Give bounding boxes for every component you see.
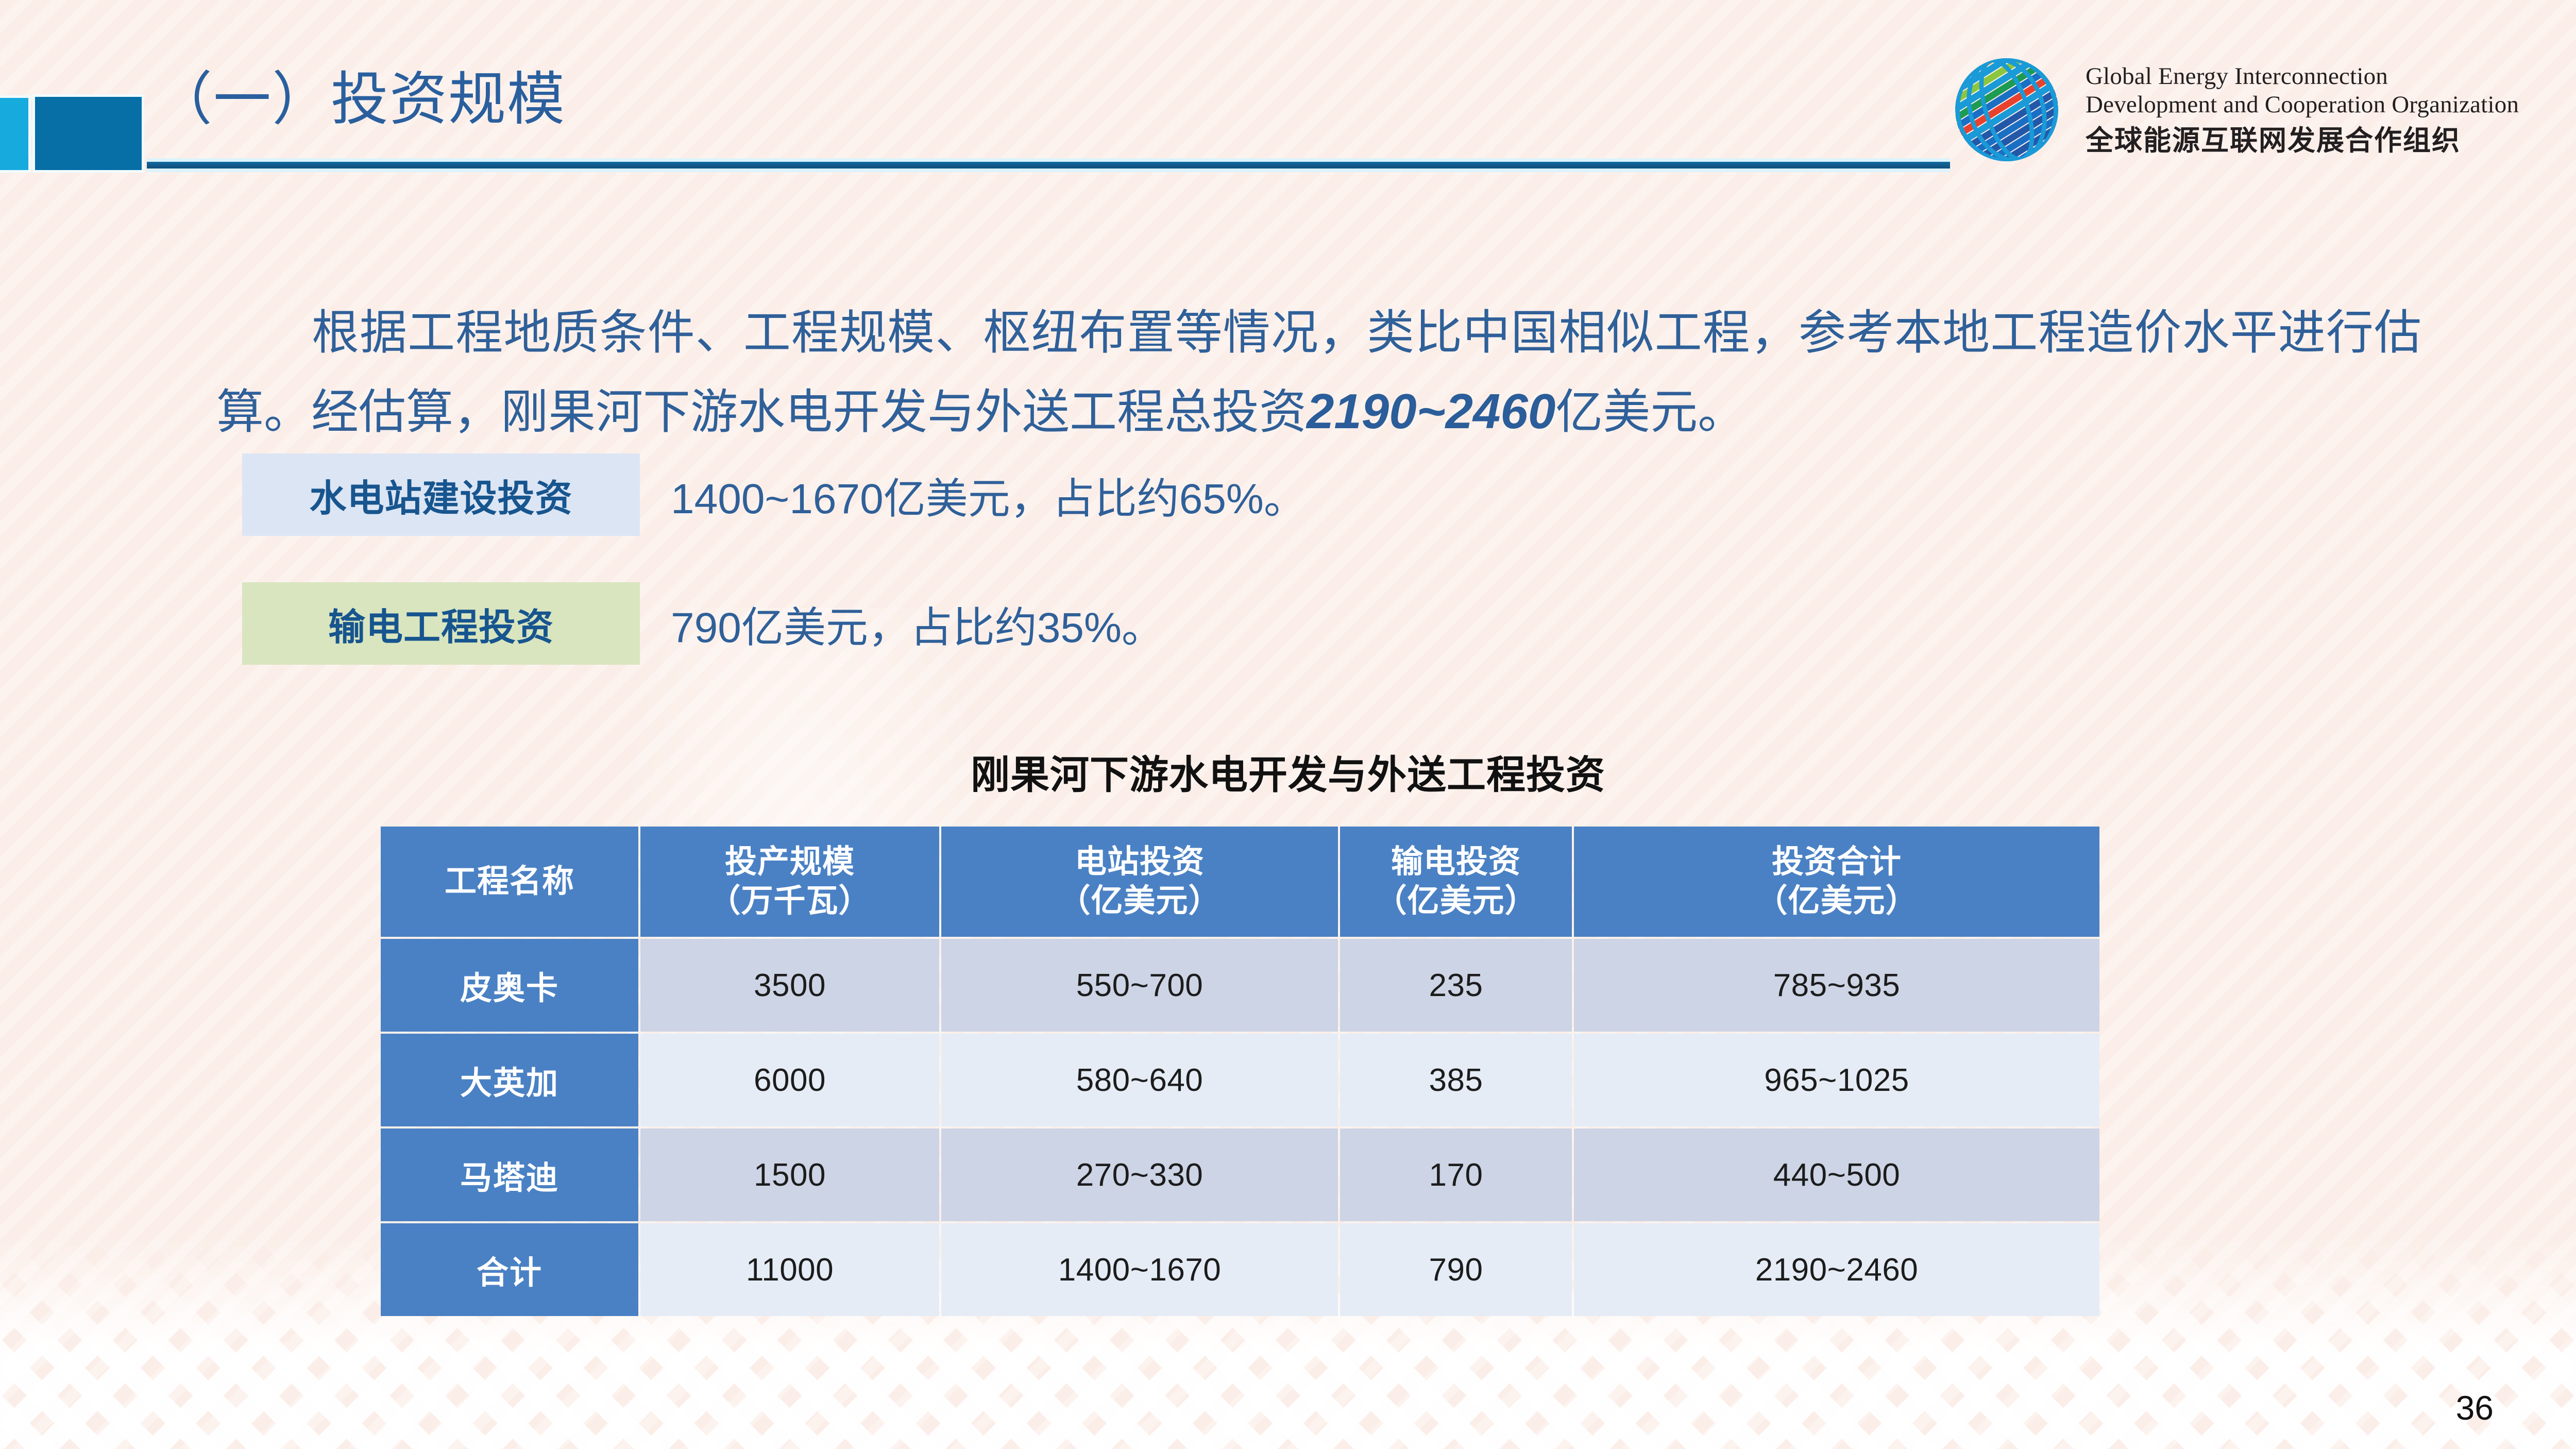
cell-capacity: 11000 bbox=[640, 1223, 939, 1316]
bullet-row-hydropower: 水电站建设投资 1400~1670亿美元，占比约65%。 bbox=[242, 453, 1306, 536]
header-line-1: 投产规模 bbox=[641, 843, 939, 882]
bullet-text-transmission: 790亿美元，占比约35%。 bbox=[671, 593, 1164, 654]
header-accent-block-cyan bbox=[0, 98, 28, 170]
page-number: 36 bbox=[2456, 1388, 2494, 1427]
logo-english-line-1: Global Energy Interconnection bbox=[2086, 62, 2519, 91]
column-header-capacity: 投产规模 （万千瓦） bbox=[640, 827, 939, 937]
header-line-1: 投资合计 bbox=[1574, 843, 2099, 882]
cell-transmission-investment: 790 bbox=[1340, 1223, 1572, 1316]
header-line-1: 输电投资 bbox=[1341, 843, 1571, 882]
cell-capacity: 1500 bbox=[640, 1128, 939, 1221]
cell-project-name: 合计 bbox=[381, 1223, 638, 1316]
column-header-project-name: 工程名称 bbox=[381, 827, 638, 937]
cell-project-name: 马塔迪 bbox=[381, 1128, 638, 1221]
header-line-1: 工程名称 bbox=[381, 862, 638, 901]
table-row: 大英加 6000 580~640 385 965~1025 bbox=[381, 1034, 2099, 1126]
investment-table: 工程名称 投产规模 （万千瓦） 电站投资 （亿美元） 输电投资 （亿美元） 投资… bbox=[379, 824, 2102, 1318]
bullet-row-transmission: 输电工程投资 790亿美元，占比约35%。 bbox=[242, 582, 1164, 665]
cell-plant-investment: 580~640 bbox=[941, 1034, 1338, 1126]
header-line-2: （亿美元） bbox=[1341, 882, 1571, 921]
table-row: 皮奥卡 3500 550~700 235 785~935 bbox=[381, 939, 2099, 1032]
header-line-2: （亿美元） bbox=[1574, 882, 2099, 921]
cell-transmission-investment: 385 bbox=[1340, 1034, 1572, 1126]
table-row-total: 合计 11000 1400~1670 790 2190~2460 bbox=[381, 1223, 2099, 1316]
logo-english-line-2: Development and Cooperation Organization bbox=[2086, 91, 2519, 119]
cell-total-investment: 965~1025 bbox=[1574, 1034, 2099, 1126]
cell-project-name: 大英加 bbox=[381, 1034, 638, 1126]
bullet-tag-hydropower: 水电站建设投资 bbox=[242, 453, 640, 536]
cell-capacity: 6000 bbox=[640, 1034, 939, 1126]
column-header-transmission-investment: 输电投资 （亿美元） bbox=[1340, 827, 1572, 937]
header-line-1: 电站投资 bbox=[942, 843, 1337, 882]
cell-total-investment: 2190~2460 bbox=[1574, 1223, 2099, 1316]
header-line-2: （万千瓦） bbox=[641, 882, 939, 921]
table-header-row: 工程名称 投产规模 （万千瓦） 电站投资 （亿美元） 输电投资 （亿美元） 投资… bbox=[381, 827, 2099, 937]
cell-capacity: 3500 bbox=[640, 939, 939, 1032]
page-title: （一）投资规模 bbox=[155, 62, 566, 137]
header-line-2: （亿美元） bbox=[942, 882, 1337, 921]
bullet-text-hydropower: 1400~1670亿美元，占比约65%。 bbox=[671, 464, 1306, 526]
cell-total-investment: 785~935 bbox=[1574, 939, 2099, 1032]
body-paragraph: 根据工程地质条件、工程规模、枢纽布置等情况，类比中国相似工程，参考本地工程造价水… bbox=[216, 295, 2421, 452]
title-divider-rule bbox=[147, 162, 1950, 169]
cell-plant-investment: 1400~1670 bbox=[941, 1223, 1338, 1316]
slide-canvas: （一）投资规模 bbox=[0, 0, 2576, 1449]
column-header-total-investment: 投资合计 （亿美元） bbox=[1574, 827, 2099, 937]
cell-transmission-investment: 170 bbox=[1340, 1128, 1572, 1221]
bullet-tag-transmission: 输电工程投资 bbox=[242, 582, 640, 665]
logo-chinese-name: 全球能源互联网发展合作组织 bbox=[2086, 125, 2519, 157]
cell-plant-investment: 270~330 bbox=[941, 1128, 1338, 1221]
globe-stripes-icon bbox=[1942, 45, 2071, 174]
table-caption: 刚果河下游水电开发与外送工程投资 bbox=[0, 743, 2576, 800]
column-header-plant-investment: 电站投资 （亿美元） bbox=[941, 827, 1338, 937]
cell-transmission-investment: 235 bbox=[1340, 939, 1572, 1032]
cell-total-investment: 440~500 bbox=[1574, 1128, 2099, 1221]
cell-project-name: 皮奥卡 bbox=[381, 939, 638, 1032]
table-row: 马塔迪 1500 270~330 170 440~500 bbox=[381, 1128, 2099, 1221]
cell-plant-investment: 550~700 bbox=[941, 939, 1338, 1032]
paragraph-emphasis-total: 2190~2460 bbox=[1307, 384, 1555, 439]
paragraph-text-tail: 亿美元。 bbox=[1555, 386, 1745, 439]
organization-logo: Global Energy Interconnection Developmen… bbox=[1942, 45, 2519, 174]
logo-text-block: Global Energy Interconnection Developmen… bbox=[2086, 62, 2519, 157]
header-accent-block-blue bbox=[35, 97, 142, 170]
